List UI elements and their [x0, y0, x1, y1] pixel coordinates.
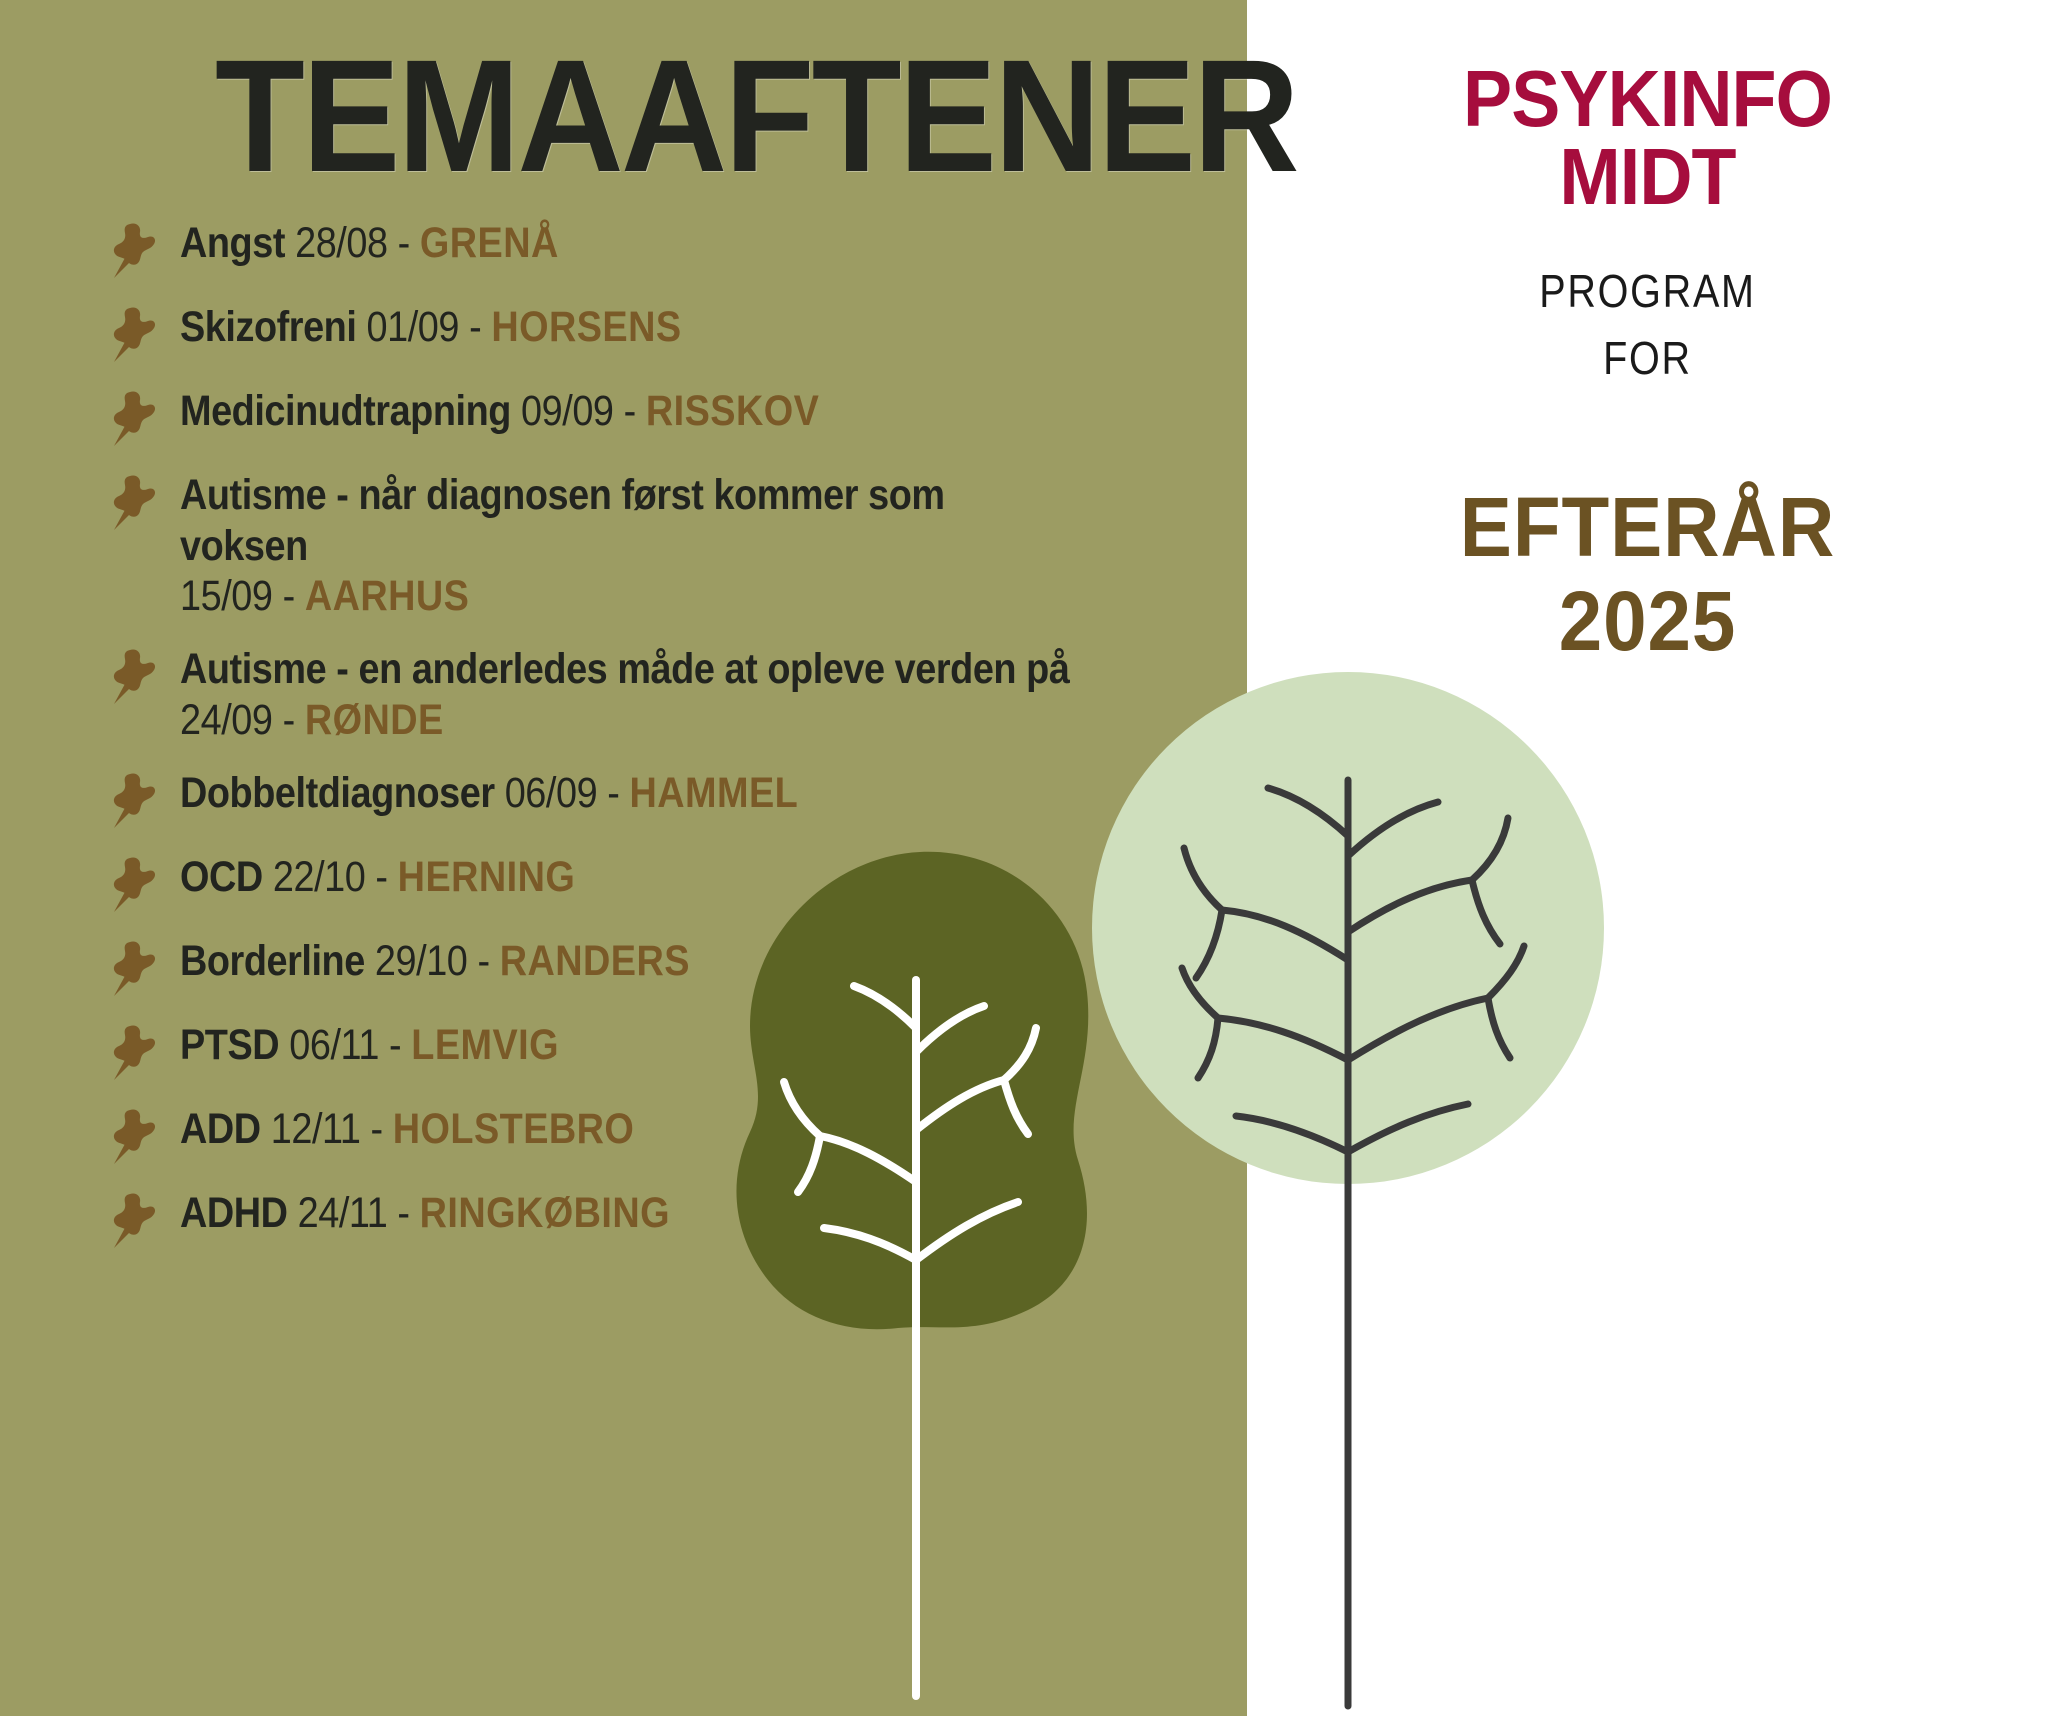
- pushpin-icon: [110, 648, 158, 706]
- event-date: 28/08: [295, 219, 387, 267]
- event-date: 01/09: [367, 303, 459, 351]
- event-separator: -: [607, 769, 619, 817]
- event-date-city: 09/09 - RISSKOV: [511, 387, 819, 435]
- event-date-city: 06/09 - HAMMEL: [495, 769, 799, 817]
- event-text: Medicinudtrapning 09/09 - RISSKOV: [180, 386, 1078, 437]
- event-city: LEMVIG: [411, 1021, 559, 1069]
- event-date-city: 22/10 - HERNING: [263, 853, 575, 901]
- event-city: HERNING: [398, 853, 576, 901]
- event-row: ADD 12/11 - HOLSTEBRO: [110, 1104, 1200, 1166]
- event-city: HORSENS: [491, 303, 681, 351]
- event-topic: ADHD: [180, 1189, 288, 1237]
- event-text: Skizofreni 01/09 - HORSENS: [180, 302, 1078, 353]
- event-city: HOLSTEBRO: [393, 1105, 635, 1153]
- event-topic: OCD: [180, 853, 263, 901]
- event-topic: Dobbeltdiagnoser: [180, 769, 495, 817]
- event-date: 15/09: [180, 572, 272, 620]
- poster-canvas: TEMAAFTENER Angst 28/08 - GRENÅSkizofren…: [0, 0, 2048, 1716]
- event-separator: -: [397, 1189, 409, 1237]
- event-row: Autisme - når diagnosen først kommer som…: [110, 470, 1200, 622]
- event-text: Dobbeltdiagnoser 06/09 - HAMMEL: [180, 768, 1078, 819]
- season-line-2: 2025: [1275, 574, 2020, 668]
- season-label: EFTERÅR 2025: [1275, 480, 2020, 668]
- event-text: OCD 22/10 - HERNING: [180, 852, 1078, 903]
- event-separator: -: [283, 572, 295, 620]
- event-date: 06/09: [505, 769, 597, 817]
- event-date-city: 12/11 - HOLSTEBRO: [261, 1105, 635, 1153]
- event-text: PTSD 06/11 - LEMVIG: [180, 1020, 1078, 1071]
- event-row: PTSD 06/11 - LEMVIG: [110, 1020, 1200, 1082]
- event-row: Medicinudtrapning 09/09 - RISSKOV: [110, 386, 1200, 448]
- event-date-city: 01/09 - HORSENS: [356, 303, 681, 351]
- event-city: RØNDE: [305, 696, 444, 744]
- event-date: 09/09: [521, 387, 613, 435]
- event-text: ADHD 24/11 - RINGKØBING: [180, 1188, 1078, 1239]
- event-city: RANDERS: [500, 937, 690, 985]
- event-topic: Skizofreni: [180, 303, 356, 351]
- event-text: Autisme - når diagnosen først kommer som…: [180, 470, 1078, 622]
- pushpin-icon: [110, 1192, 158, 1250]
- event-date: 12/11: [271, 1105, 361, 1153]
- brand-wordmark: PSYKINFO MIDT: [1279, 60, 2016, 217]
- event-row: Skizofreni 01/09 - HORSENS: [110, 302, 1200, 364]
- event-topic: Medicinudtrapning: [180, 387, 511, 435]
- event-date: 24/09: [180, 696, 272, 744]
- event-topic: Autisme - en anderledes måde at opleve v…: [180, 645, 1069, 693]
- event-separator: -: [283, 696, 295, 744]
- event-text: Autisme - en anderledes måde at opleve v…: [180, 644, 1078, 745]
- program-line-2: FOR: [1303, 325, 1992, 392]
- pushpin-icon: [110, 474, 158, 532]
- event-city: GRENÅ: [420, 219, 559, 267]
- pushpin-icon: [110, 222, 158, 280]
- pushpin-icon: [110, 1108, 158, 1166]
- event-date-city: 06/11 - LEMVIG: [279, 1021, 559, 1069]
- page-title: TEMAAFTENER: [215, 36, 1297, 196]
- event-topic: ADD: [180, 1105, 261, 1153]
- event-text: ADD 12/11 - HOLSTEBRO: [180, 1104, 1078, 1155]
- event-separator: -: [375, 853, 387, 901]
- brand-line-1: PSYKINFO: [1463, 54, 1832, 143]
- program-for-label: PROGRAM FOR: [1303, 258, 1992, 391]
- event-separator: -: [469, 303, 481, 351]
- event-city: AARHUS: [305, 572, 470, 620]
- event-date-city: 24/11 - RINGKØBING: [288, 1189, 670, 1237]
- event-topic: Autisme - når diagnosen først kommer som…: [180, 471, 945, 570]
- event-text: Borderline 29/10 - RANDERS: [180, 936, 1078, 987]
- event-date-city: 29/10 - RANDERS: [365, 937, 690, 985]
- pushpin-icon: [110, 856, 158, 914]
- event-separator: -: [389, 1021, 401, 1069]
- event-row: Borderline 29/10 - RANDERS: [110, 936, 1200, 998]
- event-separator: -: [398, 219, 410, 267]
- pushpin-icon: [110, 772, 158, 830]
- event-date: 06/11: [289, 1021, 379, 1069]
- event-date-city: 28/08 - GRENÅ: [285, 219, 559, 267]
- event-city: RINGKØBING: [420, 1189, 670, 1237]
- event-separator: -: [371, 1105, 383, 1153]
- event-row: OCD 22/10 - HERNING: [110, 852, 1200, 914]
- event-topic: PTSD: [180, 1021, 279, 1069]
- event-city: RISSKOV: [646, 387, 819, 435]
- event-separator: -: [624, 387, 636, 435]
- event-topic: Angst: [180, 219, 285, 267]
- event-date-city: 15/09 - AARHUS: [180, 571, 1078, 622]
- event-row: Dobbeltdiagnoser 06/09 - HAMMEL: [110, 768, 1200, 830]
- events-list: Angst 28/08 - GRENÅSkizofreni 01/09 - HO…: [110, 218, 1200, 1272]
- event-row: Autisme - en anderledes måde at opleve v…: [110, 644, 1200, 745]
- event-row: Angst 28/08 - GRENÅ: [110, 218, 1200, 280]
- event-date-city: 24/09 - RØNDE: [180, 695, 1078, 746]
- pushpin-icon: [110, 306, 158, 364]
- event-date: 24/11: [298, 1189, 388, 1237]
- event-date: 29/10: [375, 937, 467, 985]
- event-topic: Borderline: [180, 937, 365, 985]
- event-row: ADHD 24/11 - RINGKØBING: [110, 1188, 1200, 1250]
- pushpin-icon: [110, 940, 158, 998]
- event-city: HAMMEL: [630, 769, 799, 817]
- event-separator: -: [477, 937, 489, 985]
- event-text: Angst 28/08 - GRENÅ: [180, 218, 1078, 269]
- brand-line-2: MIDT: [1279, 138, 2016, 216]
- event-date: 22/10: [273, 853, 365, 901]
- pushpin-icon: [110, 1024, 158, 1082]
- program-line-1: PROGRAM: [1303, 258, 1992, 325]
- season-line-1: EFTERÅR: [1275, 480, 2020, 574]
- pushpin-icon: [110, 390, 158, 448]
- sidebar-panel: PSYKINFO MIDT PROGRAM FOR EFTERÅR 2025: [1247, 0, 2048, 1716]
